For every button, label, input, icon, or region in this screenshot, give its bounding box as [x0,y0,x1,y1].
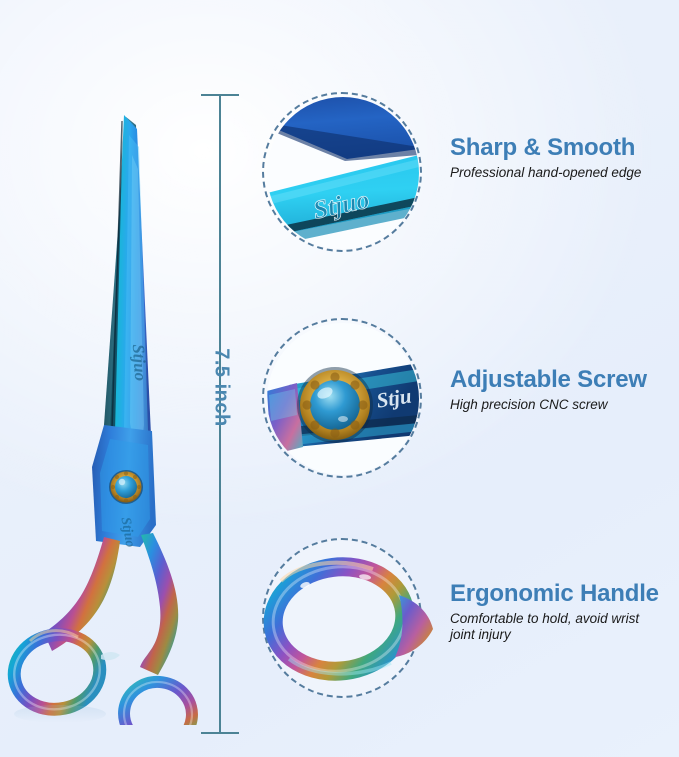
feature-title: Adjustable Screw [450,366,679,394]
feature-closeup-circle [262,538,422,698]
feature-closeup-circle: Stju [262,318,422,478]
feature-subtitle: Comfortable to hold, avoid wrist joint i… [450,611,679,645]
feature-sharp-smooth: Stjuo Sharp & Smooth Professional hand-o… [262,92,679,256]
closeup-pivot-screw: Stju [267,323,419,475]
feature-title: Sharp & Smooth [450,134,679,162]
measurement-cap-bottom [201,732,239,734]
closeup-handle-ring [267,543,419,695]
feature-text-block: Sharp & Smooth Professional hand-opened … [450,134,679,181]
feature-ergonomic-handle: Ergonomic Handle Comfortable to hold, av… [262,538,679,702]
measurement-bar: 7.5 inch [198,90,244,738]
feature-closeup-circle: Stjuo [262,92,422,252]
feature-text-block: Adjustable Screw High precision CNC scre… [450,366,679,413]
product-image-scissors: Stjuo Stjuo [0,95,200,725]
closeup-blade-edge: Stjuo [267,97,419,249]
feature-subtitle: Professional hand-opened edge [450,165,679,182]
measurement-label: 7.5 inch [210,333,233,443]
feature-title: Ergonomic Handle [450,580,679,608]
feature-text-block: Ergonomic Handle Comfortable to hold, av… [450,580,679,644]
svg-text:Stjuo: Stjuo [129,344,151,382]
feature-subtitle: High precision CNC screw [450,397,679,414]
feature-adjustable-screw: Stju Adjustable Screw High precision CNC… [262,318,679,482]
